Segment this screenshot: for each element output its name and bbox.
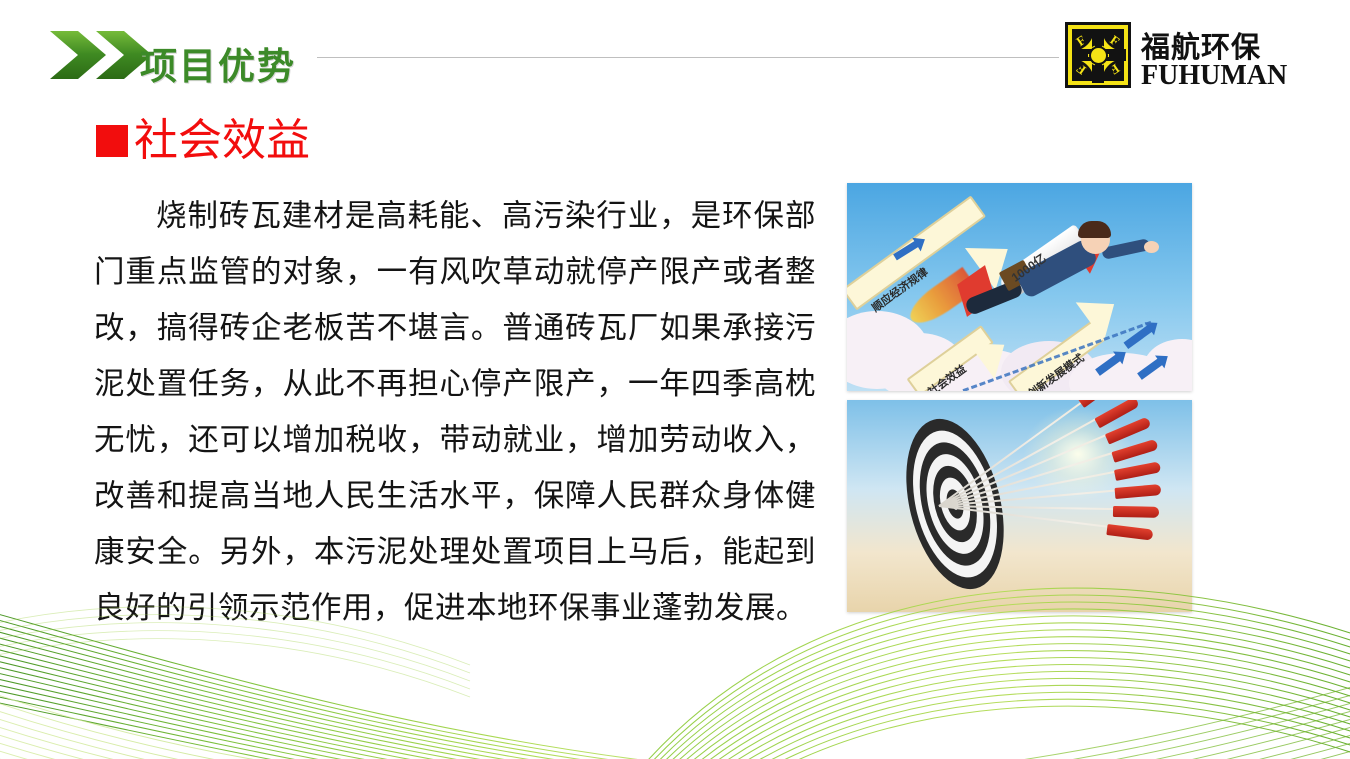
green-ribbon-wave-decoration	[0, 569, 1350, 759]
slide-canvas: 项目优势 F F F F 福航环保 FUHUMAN	[0, 0, 1350, 759]
page-title: 项目优势	[140, 36, 296, 90]
header-divider	[317, 57, 1059, 58]
section-heading-label: 社会效益	[134, 119, 310, 163]
section-heading: 社会效益	[96, 113, 310, 169]
company-name-en: FUHUMAN	[1141, 60, 1287, 92]
slide-header: 项目优势 F F F F 福航环保 FUHUMAN	[0, 0, 1350, 105]
fuhuman-logo-icon: F F F F	[1065, 22, 1131, 88]
businessman-hand	[1144, 241, 1159, 253]
red-square-bullet-icon	[96, 125, 128, 157]
businessman-hair	[1078, 221, 1111, 238]
company-logo: F F F F 福航环保 FUHUMAN	[1065, 22, 1270, 94]
businessman-rocket-illustration: 顺应经济规律 社会效益 创新发展模式 1000亿	[847, 183, 1192, 391]
